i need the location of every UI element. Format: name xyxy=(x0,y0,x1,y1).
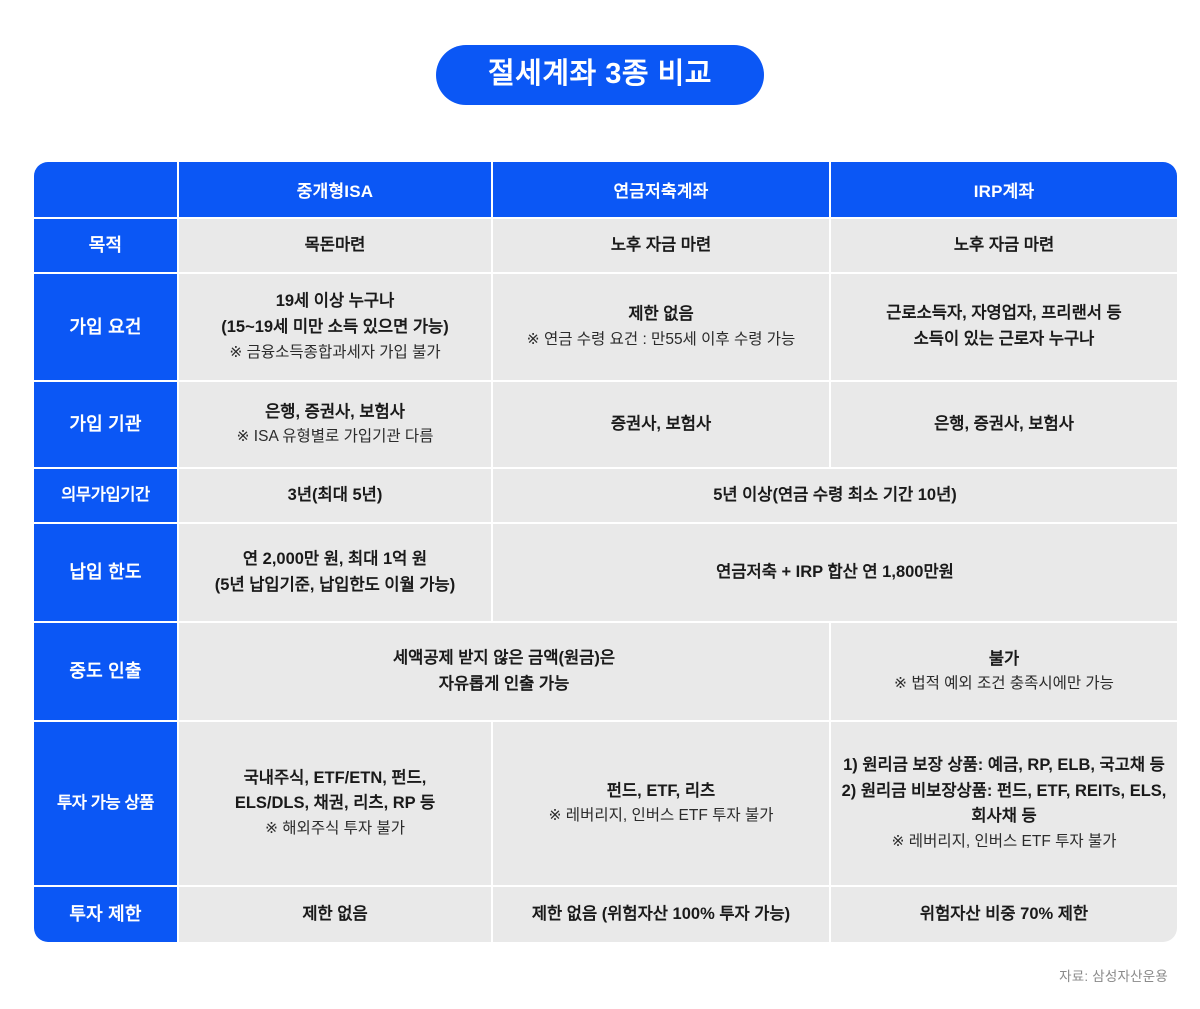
table-header-row: 중개형ISA 연금저축계좌 IRP계좌 xyxy=(34,162,1177,217)
cell-text-line: 연금저축 + IRP 합산 연 1,800만원 xyxy=(493,560,1177,586)
table-cell: 은행, 증권사, 보험사 xyxy=(831,382,1177,467)
cell-note-line: ※ 법적 예외 조건 충족시에만 가능 xyxy=(831,672,1177,696)
column-header-irp: IRP계좌 xyxy=(831,162,1177,217)
cell-text-line: 회사채 등 xyxy=(831,804,1177,830)
row-label: 투자 가능 상품 xyxy=(34,722,177,885)
row-label: 가입 기관 xyxy=(34,382,177,467)
row-label: 목적 xyxy=(34,219,177,272)
table-cell: 은행, 증권사, 보험사※ ISA 유형별로 가입기관 다름 xyxy=(179,382,491,467)
row-label: 의무가입기간 xyxy=(34,469,177,522)
comparison-table: 중개형ISA 연금저축계좌 IRP계좌 목적목돈마련노후 자금 마련노후 자금 … xyxy=(32,160,1179,944)
table-row: 투자 가능 상품국내주식, ETF/ETN, 펀드,ELS/DLS, 채권, 리… xyxy=(34,722,1177,885)
table-cell: 3년(최대 5년) xyxy=(179,469,491,522)
cell-text-line: 은행, 증권사, 보험사 xyxy=(831,412,1177,438)
column-header-isa: 중개형ISA xyxy=(179,162,491,217)
cell-text-line: 19세 이상 누구나 xyxy=(179,289,491,315)
table-header: 중개형ISA 연금저축계좌 IRP계좌 xyxy=(34,162,1177,217)
table-cell: 위험자산 비중 70% 제한 xyxy=(831,887,1177,942)
cell-text-line: 펀드, ETF, 리츠 xyxy=(493,779,829,805)
cell-text-line: 5년 이상(연금 수령 최소 기간 10년) xyxy=(493,483,1177,509)
table-cell: 불가※ 법적 예외 조건 충족시에만 가능 xyxy=(831,623,1177,720)
table-cell: 국내주식, ETF/ETN, 펀드,ELS/DLS, 채권, 리츠, RP 등※… xyxy=(179,722,491,885)
table-cell: 펀드, ETF, 리츠※ 레버리지, 인버스 ETF 투자 불가 xyxy=(493,722,829,885)
cell-text-line: 세액공제 받지 않은 금액(원금)은 xyxy=(179,646,829,672)
cell-text-line: 2) 원리금 비보장상품: 펀드, ETF, REITs, ELS, xyxy=(831,779,1177,805)
table-cell: 노후 자금 마련 xyxy=(493,219,829,272)
row-label: 가입 요건 xyxy=(34,274,177,380)
cell-text-line: 연 2,000만 원, 최대 1억 원 xyxy=(179,547,491,573)
table-row: 납입 한도연 2,000만 원, 최대 1억 원(5년 납입기준, 납입한도 이… xyxy=(34,524,1177,621)
table-row: 투자 제한제한 없음제한 없음 (위험자산 100% 투자 가능)위험자산 비중… xyxy=(34,887,1177,942)
table-row: 가입 기관은행, 증권사, 보험사※ ISA 유형별로 가입기관 다름증권사, … xyxy=(34,382,1177,467)
cell-text-line: 국내주식, ETF/ETN, 펀드, xyxy=(179,766,491,792)
row-label: 투자 제한 xyxy=(34,887,177,942)
cell-note-line: ※ 해외주식 투자 불가 xyxy=(179,817,491,841)
cell-note-line: ※ 연금 수령 요건 : 만55세 이후 수령 가능 xyxy=(493,328,829,352)
table-cell: 1) 원리금 보장 상품: 예금, RP, ELB, 국고채 등2) 원리금 비… xyxy=(831,722,1177,885)
column-header-pension: 연금저축계좌 xyxy=(493,162,829,217)
table-cell: 19세 이상 누구나(15~19세 미만 소득 있으면 가능)※ 금융소득종합과… xyxy=(179,274,491,380)
table-cell: 근로소득자, 자영업자, 프리랜서 등소득이 있는 근로자 누구나 xyxy=(831,274,1177,380)
cell-text-line: 자유롭게 인출 가능 xyxy=(179,672,829,698)
cell-text-line: 증권사, 보험사 xyxy=(493,412,829,438)
cell-text-line: 노후 자금 마련 xyxy=(493,233,829,259)
table-body: 목적목돈마련노후 자금 마련노후 자금 마련가입 요건19세 이상 누구나(15… xyxy=(34,219,1177,942)
table-cell: 연 2,000만 원, 최대 1억 원(5년 납입기준, 납입한도 이월 가능) xyxy=(179,524,491,621)
cell-text-line: 목돈마련 xyxy=(179,233,491,259)
table-row: 목적목돈마련노후 자금 마련노후 자금 마련 xyxy=(34,219,1177,272)
table-cell: 증권사, 보험사 xyxy=(493,382,829,467)
table-cell: 제한 없음 xyxy=(179,887,491,942)
title-container: 절세계좌 3종 비교 xyxy=(0,0,1200,105)
cell-text-line: 3년(최대 5년) xyxy=(179,483,491,509)
cell-text-line: 제한 없음 (위험자산 100% 투자 가능) xyxy=(493,902,829,928)
cell-text-line: (5년 납입기준, 납입한도 이월 가능) xyxy=(179,573,491,599)
table-cell: 연금저축 + IRP 합산 연 1,800만원 xyxy=(493,524,1177,621)
row-label: 납입 한도 xyxy=(34,524,177,621)
cell-text-line: 소득이 있는 근로자 누구나 xyxy=(831,327,1177,353)
cell-text-line: 제한 없음 xyxy=(179,902,491,928)
table-cell: 제한 없음※ 연금 수령 요건 : 만55세 이후 수령 가능 xyxy=(493,274,829,380)
cell-note-line: ※ ISA 유형별로 가입기관 다름 xyxy=(179,425,491,449)
table-cell: 노후 자금 마련 xyxy=(831,219,1177,272)
table-cell: 세액공제 받지 않은 금액(원금)은자유롭게 인출 가능 xyxy=(179,623,829,720)
cell-text-line: ELS/DLS, 채권, 리츠, RP 등 xyxy=(179,791,491,817)
header-corner-blank xyxy=(34,162,177,217)
cell-text-line: 은행, 증권사, 보험사 xyxy=(179,400,491,426)
table-cell: 제한 없음 (위험자산 100% 투자 가능) xyxy=(493,887,829,942)
cell-text-line: 불가 xyxy=(831,647,1177,673)
row-label: 중도 인출 xyxy=(34,623,177,720)
comparison-table-container: 중개형ISA 연금저축계좌 IRP계좌 목적목돈마련노후 자금 마련노후 자금 … xyxy=(32,160,1169,944)
cell-note-line: ※ 레버리지, 인버스 ETF 투자 불가 xyxy=(493,804,829,828)
cell-text-line: (15~19세 미만 소득 있으면 가능) xyxy=(179,315,491,341)
cell-text-line: 노후 자금 마련 xyxy=(831,233,1177,259)
table-cell: 목돈마련 xyxy=(179,219,491,272)
table-row: 가입 요건19세 이상 누구나(15~19세 미만 소득 있으면 가능)※ 금융… xyxy=(34,274,1177,380)
cell-text-line: 근로소득자, 자영업자, 프리랜서 등 xyxy=(831,301,1177,327)
infographic-page: 절세계좌 3종 비교 중개형ISA 연금저축계좌 IRP계좌 목적목돈마련노후 … xyxy=(0,0,1200,1009)
cell-text-line: 제한 없음 xyxy=(493,302,829,328)
cell-text-line: 1) 원리금 보장 상품: 예금, RP, ELB, 국고채 등 xyxy=(831,753,1177,779)
table-row: 의무가입기간3년(최대 5년)5년 이상(연금 수령 최소 기간 10년) xyxy=(34,469,1177,522)
page-title: 절세계좌 3종 비교 xyxy=(436,45,764,105)
cell-note-line: ※ 레버리지, 인버스 ETF 투자 불가 xyxy=(831,830,1177,854)
cell-text-line: 위험자산 비중 70% 제한 xyxy=(831,902,1177,928)
source-credit: 자료: 삼성자산운용 xyxy=(1059,965,1168,985)
cell-note-line: ※ 금융소득종합과세자 가입 불가 xyxy=(179,341,491,365)
table-row: 중도 인출세액공제 받지 않은 금액(원금)은자유롭게 인출 가능불가※ 법적 … xyxy=(34,623,1177,720)
table-cell: 5년 이상(연금 수령 최소 기간 10년) xyxy=(493,469,1177,522)
